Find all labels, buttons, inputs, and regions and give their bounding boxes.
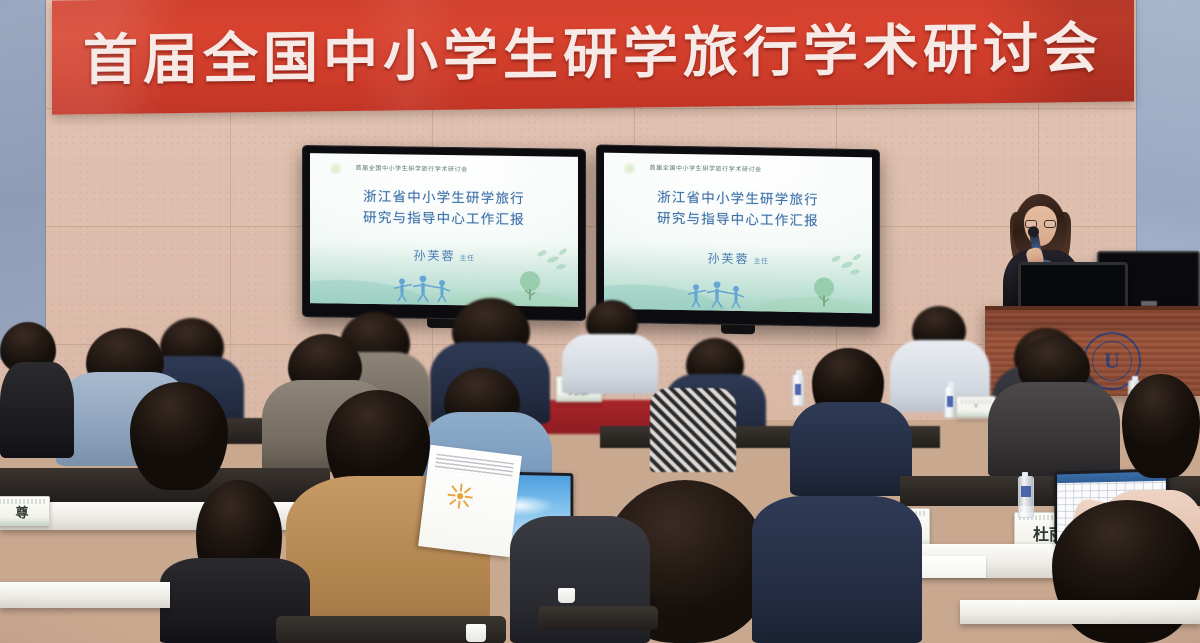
paper-cup (558, 588, 575, 603)
presentation-slide-left: 首届全国中小学生研学旅行学术研讨会 浙江省中小学生研学旅行 研究与指导中心工作汇… (310, 153, 578, 307)
attendee-torso-foreground (752, 496, 922, 643)
slide-people-icon (390, 275, 460, 302)
name-card-left-edge: 尊 (0, 496, 50, 526)
water-bottle (944, 386, 956, 418)
paper-cup (466, 624, 486, 642)
name-card-header (961, 399, 991, 404)
event-banner: 首届全国中小学生研学旅行学术研讨会 (52, 0, 1134, 115)
slide-title-line2: 研究与指导中心工作汇报 (310, 207, 578, 232)
attendee-torso (562, 334, 658, 394)
slide-sun-icon (329, 162, 342, 175)
name-card-header (0, 499, 45, 504)
slide-title: 浙江省中小学生研学旅行 研究与指导中心工作汇报 (310, 186, 578, 232)
display-screen-left: 首届全国中小学生研学旅行学术研讨会 浙江省中小学生研学旅行 研究与指导中心工作汇… (302, 145, 586, 321)
slide-author-role: 主任 (754, 257, 769, 265)
conference-photo: 首届全国中小学生研学旅行学术研讨会 首届全国中小学生研学旅行学术研讨会 浙江省中… (0, 0, 1200, 643)
chair-back (538, 606, 658, 630)
held-handout (418, 445, 522, 557)
slide-header-text: 首届全国中小学生研学旅行学术研讨会 (650, 163, 856, 176)
attendee-torso (790, 402, 912, 496)
slide-leaves-icon (536, 247, 570, 273)
audience-area: 乃东 安进 · 吉 (0, 300, 1200, 643)
water-bottle (792, 374, 804, 406)
water-bottle (1018, 476, 1034, 518)
slide-author-name: 孙芙蓉 (413, 248, 455, 263)
name-card-text: 尊 (15, 502, 28, 521)
slide-title: 浙江省中小学生研学旅行 研究与指导中心工作汇报 (604, 187, 872, 234)
slide-header-text: 首届全国中小学生研学旅行学术研讨会 (356, 163, 562, 175)
slide-author-name: 孙芙蓉 (707, 252, 749, 267)
attendee-torso-patterned (650, 388, 736, 472)
presentation-slide-right: 首届全国中小学生研学旅行学术研讨会 浙江省中小学生研学旅行 研究与指导中心工作汇… (604, 153, 872, 314)
slide-author-role: 主任 (460, 254, 475, 262)
attendee-torso (0, 362, 74, 458)
attendee-head-foreground (1122, 374, 1200, 478)
slide-sun-icon (623, 162, 636, 175)
slide-tree-icon (517, 270, 543, 300)
slide-title-line2: 研究与指导中心工作汇报 (604, 208, 872, 234)
attendee-table (0, 582, 170, 608)
sunburst-graphic-icon (442, 474, 478, 518)
attendee-torso (988, 382, 1120, 478)
slide-leaves-icon (830, 252, 864, 279)
attendee-table (960, 600, 1200, 624)
event-banner-title: 首届全国中小学生研学旅行学术研讨会 (52, 0, 1134, 115)
attendee-head-foreground (130, 382, 228, 490)
